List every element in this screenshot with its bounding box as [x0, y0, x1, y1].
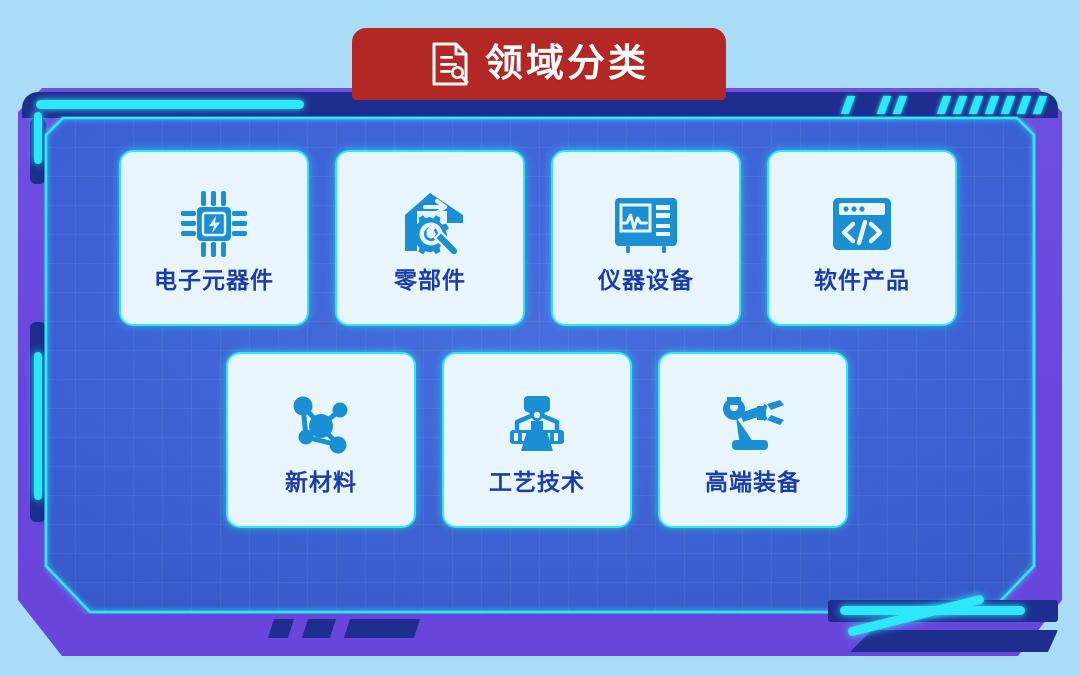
card-label: 新材料 — [285, 471, 357, 494]
card-label: 高端装备 — [705, 471, 801, 494]
press-machine-icon — [498, 387, 576, 465]
warehouse-gear-wrench-icon — [391, 185, 469, 263]
card-instruments[interactable]: 仪器设备 — [553, 152, 739, 324]
oscilloscope-icon — [607, 185, 685, 263]
card-label: 软件产品 — [814, 269, 910, 292]
card-label: 零部件 — [394, 269, 466, 292]
card-parts[interactable]: 零部件 — [337, 152, 523, 324]
chip-icon — [175, 185, 253, 263]
title-banner: 领域分类 — [352, 28, 726, 100]
card-high-end-equipment[interactable]: 高端装备 — [660, 354, 846, 526]
card-label: 电子元器件 — [154, 269, 274, 292]
page-title: 领域分类 — [485, 45, 649, 83]
document-pen-icon — [429, 41, 471, 87]
card-label: 工艺技术 — [489, 471, 585, 494]
card-software-products[interactable]: 软件产品 — [769, 152, 955, 324]
robot-arm-icon — [714, 387, 792, 465]
card-electronic-components[interactable]: 电子元器件 — [121, 152, 307, 324]
card-process-technology[interactable]: 工艺技术 — [444, 354, 630, 526]
card-label: 仪器设备 — [598, 269, 694, 292]
molecule-icon — [282, 387, 360, 465]
card-new-materials[interactable]: 新材料 — [228, 354, 414, 526]
code-window-icon — [823, 185, 901, 263]
